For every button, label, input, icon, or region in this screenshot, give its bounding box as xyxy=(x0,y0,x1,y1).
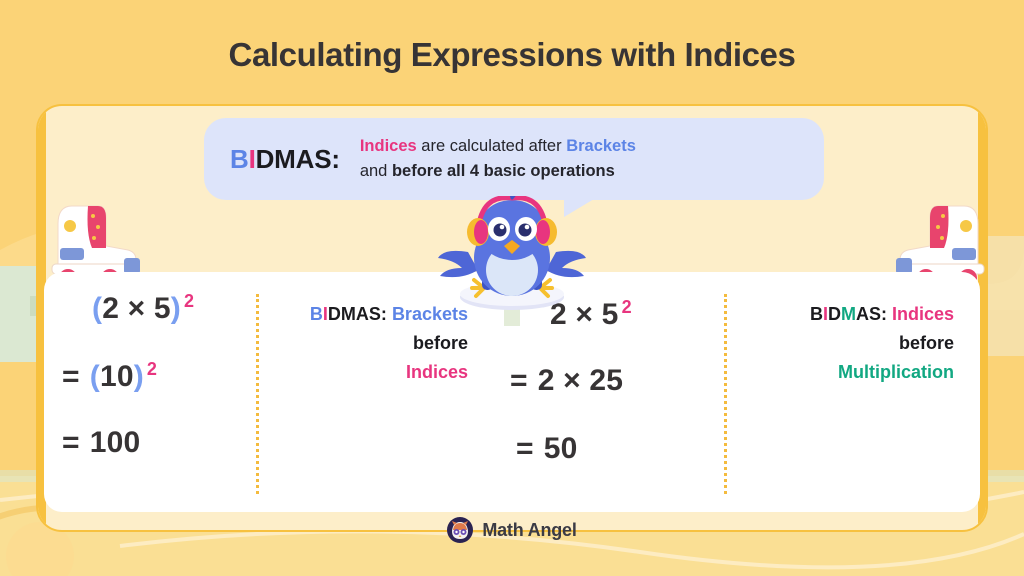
bubble-line-1: Indices are calculated after Brackets xyxy=(360,134,636,159)
bidmas-letter-b: B xyxy=(810,304,823,324)
rule-2-first-op: Indices xyxy=(892,304,954,324)
expr-result: 100 xyxy=(90,426,141,459)
equals-sign: = xyxy=(510,364,528,397)
expr-body: 2 × 5 xyxy=(102,292,171,325)
exponent: 2 xyxy=(147,359,157,379)
exponent: 2 xyxy=(184,291,194,311)
footer-brand: Math Angel xyxy=(0,517,1024,543)
expr-body: 2 × 25 xyxy=(538,364,623,397)
rule-2-column: BIDMAS: Indices before Multiplication xyxy=(714,272,980,512)
bidmas-acronym: BIDMAS: xyxy=(230,144,340,175)
example-1-column: (2 × 5)2 =(10)2 =100 xyxy=(44,272,260,512)
bubble-brackets-word: Brackets xyxy=(566,137,636,155)
rule-2-text: BIDMAS: Indices before Multiplication xyxy=(714,300,954,387)
example-1-row-2: =(10)2 xyxy=(62,360,157,392)
bidmas-explanation: Indices are calculated after Brackets an… xyxy=(360,134,636,184)
equals-sign: = xyxy=(62,426,80,459)
bidmas-letter-b: B xyxy=(230,144,249,174)
equals-sign: = xyxy=(516,432,534,465)
example-2-row-3: =50 xyxy=(516,434,578,464)
example-1-row-1: (2 × 5)2 xyxy=(92,292,194,324)
rule-2-connector: before xyxy=(714,329,954,358)
close-bracket: ) xyxy=(171,292,181,325)
bubble-line2-bold: before all 4 basic operations xyxy=(392,162,615,180)
example-1-row-3: =100 xyxy=(62,428,140,458)
bubble-indices-word: Indices xyxy=(360,137,417,155)
open-bracket: ( xyxy=(92,292,102,325)
bubble-line2-plain: and xyxy=(360,162,392,180)
rule-2-line-1: BIDMAS: Indices xyxy=(714,300,954,329)
bidmas-speech-bubble: BIDMAS: Indices are calculated after Bra… xyxy=(204,118,824,200)
exponent: 2 xyxy=(622,297,632,317)
example-2-row-2: =2 × 25 xyxy=(510,366,623,396)
bidmas-letter-m: M xyxy=(841,304,856,324)
bidmas-letter-i: I xyxy=(249,144,256,174)
expr-result: 50 xyxy=(544,432,578,465)
expr-body: 10 xyxy=(100,360,134,393)
bidmas-letters-rest: DMAS: xyxy=(256,144,340,174)
bidmas-letters-rest: DMAS: xyxy=(328,304,387,324)
equals-sign: = xyxy=(62,360,80,393)
rule-2-second-op: Multiplication xyxy=(714,358,954,387)
bidmas-letter-d: D xyxy=(828,304,841,324)
bird-mascot-icon xyxy=(432,196,592,326)
bubble-line-2: and before all 4 basic operations xyxy=(360,159,636,184)
rule-1-connector: before xyxy=(260,329,468,358)
close-bracket: ) xyxy=(134,360,144,393)
bubble-line1-plain: are calculated after xyxy=(417,137,567,155)
open-bracket: ( xyxy=(90,360,100,393)
bidmas-letters-rest: AS: xyxy=(856,304,887,324)
bidmas-letter-b: B xyxy=(310,304,323,324)
rule-1-second-op: Indices xyxy=(260,358,468,387)
page-title: Calculating Expressions with Indices xyxy=(0,36,1024,74)
math-angel-logo-icon xyxy=(447,517,473,543)
brand-name: Math Angel xyxy=(482,520,576,541)
